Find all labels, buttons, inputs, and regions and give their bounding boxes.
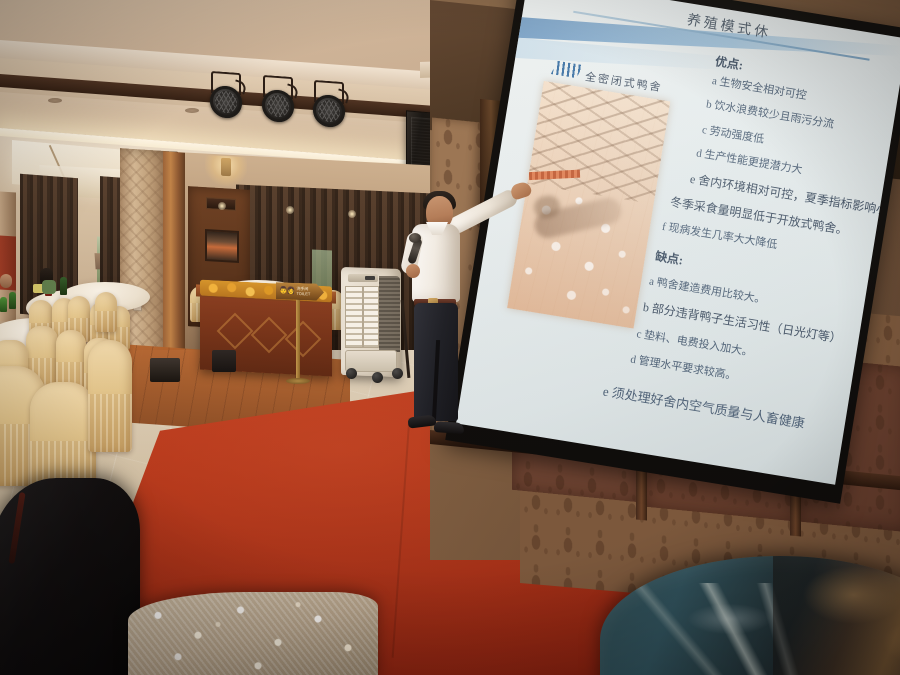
slide-logo-icon (551, 61, 583, 78)
slide-bullet: c 劳动强度低 (701, 121, 765, 147)
bottle (9, 292, 16, 309)
bottle (0, 297, 7, 312)
sign-post (296, 298, 300, 380)
chandelier (205, 155, 247, 187)
toilet-sign-label-en: TOILET (296, 291, 310, 296)
bottle (60, 277, 67, 295)
floor-monitor-speaker (212, 350, 236, 372)
air-cooler-intake (379, 276, 400, 352)
air-cooler-control-panel[interactable] (348, 274, 378, 282)
presenter-shoe (407, 414, 436, 428)
restroom-pictogram-icon: 👨👩 (279, 287, 294, 295)
seated-guest (0, 274, 12, 288)
presenter (398, 190, 528, 450)
sign-base (286, 378, 310, 384)
floor-monitor-speaker (150, 358, 180, 382)
slide-bullet: e 须处理好舍内空气质量与人畜健康 (602, 381, 806, 432)
spotlight-glow-icon (286, 206, 294, 214)
stage-light-icon (262, 89, 294, 125)
slide-photo-detail (529, 170, 581, 180)
spotlight-glow-icon (348, 210, 356, 218)
presenter-shoe (434, 421, 465, 434)
recessed-light-icon (48, 98, 62, 103)
microphone-head-icon (409, 233, 421, 243)
caster-wheel-icon (372, 372, 383, 383)
stage-light-icon (313, 94, 345, 130)
caster-wheel-icon (346, 368, 357, 379)
slide-bullet: d 管理水平要求较高。 (629, 351, 737, 384)
banquet-chair (95, 292, 117, 332)
toilet-directional-sign: 👨👩 洗手间 TOILET (276, 282, 324, 301)
air-cooler-louvers (345, 286, 379, 348)
stage-light-icon (210, 85, 242, 121)
presenter-left-hand (406, 264, 420, 278)
seated-guest-torso (42, 280, 56, 294)
spotlight-glow-icon (218, 202, 226, 210)
framed-artwork (205, 229, 239, 263)
banquet-chair (88, 340, 132, 452)
recessed-light-icon (185, 108, 199, 113)
sequin-table (128, 592, 378, 675)
slide-disadvantages-heading: 缺点: (654, 247, 684, 268)
photo-scene: 👨👩 洗手间 TOILET 养殖模式休 全密闭式鸭舍 (0, 0, 900, 675)
slide-advantages-heading: 优点: (714, 52, 744, 73)
